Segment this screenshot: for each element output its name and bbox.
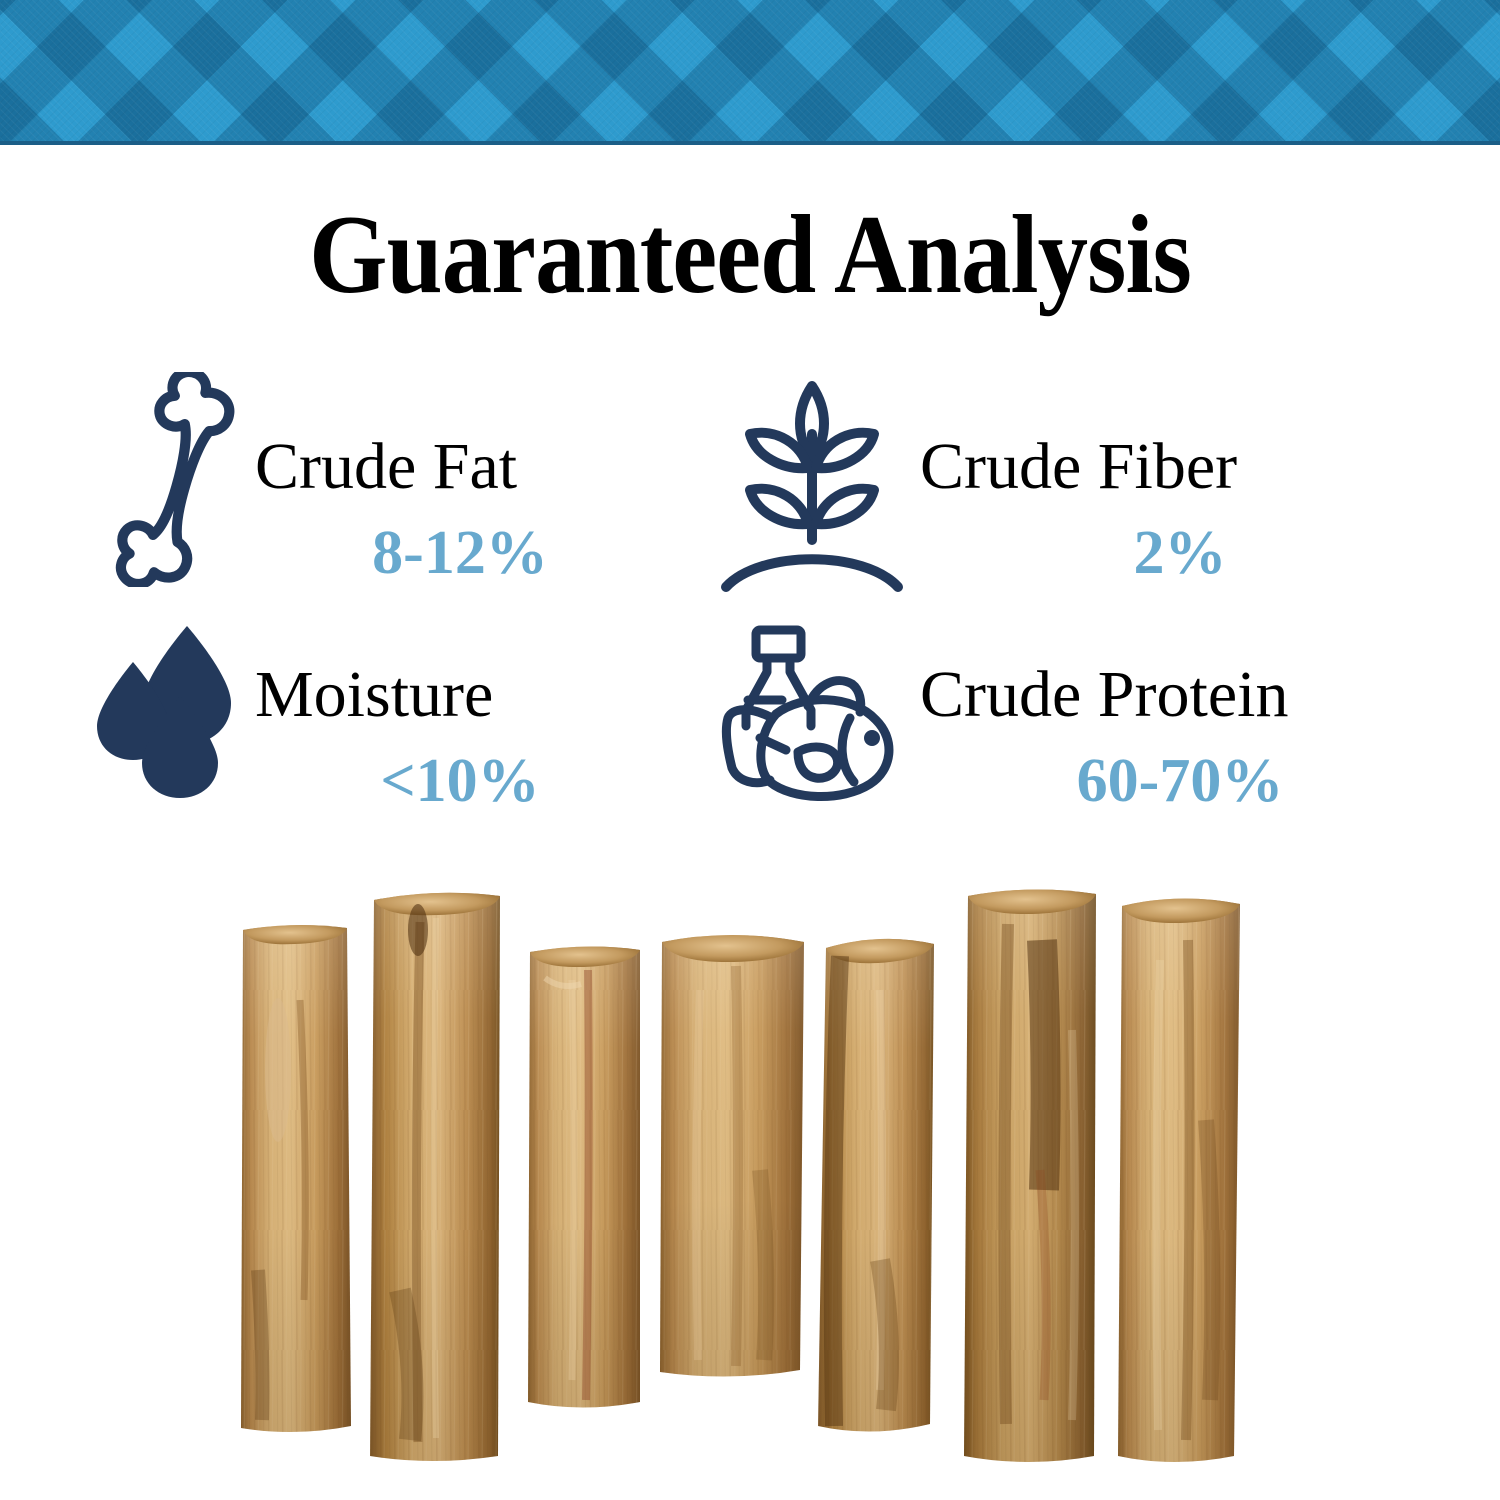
gingham-weave-texture (0, 0, 1500, 145)
bully-stick (528, 946, 640, 1407)
bully-stick (660, 935, 804, 1377)
header-gingham-banner (0, 0, 1500, 145)
stat-crude-fiber: Crude Fiber 2% (720, 372, 1440, 597)
water-droplets-icon (95, 622, 245, 812)
bully-stick (1118, 898, 1240, 1462)
stat-crude-fat-value: 8-12% (255, 518, 665, 588)
stat-crude-fat-text: Crude Fat 8-12% (255, 432, 665, 588)
stat-moisture-text: Moisture <10% (255, 660, 665, 816)
stat-moisture-value: <10% (255, 746, 665, 816)
bully-stick (370, 893, 500, 1461)
bully-sticks-illustration (0, 870, 1500, 1500)
header-bottom-rule (0, 141, 1500, 145)
stat-moisture: Moisture <10% (95, 622, 715, 847)
stat-crude-fiber-text: Crude Fiber 2% (920, 432, 1440, 588)
bully-sticks-photo (0, 870, 1500, 1500)
stat-moisture-label: Moisture (255, 660, 665, 730)
stat-crude-fiber-value: 2% (920, 518, 1440, 588)
bone-icon (95, 372, 245, 592)
bully-stick (818, 939, 934, 1432)
stat-crude-protein-value: 60-70% (920, 746, 1440, 816)
stat-crude-fat-label: Crude Fat (255, 432, 665, 502)
fish-oil-icon (720, 622, 920, 817)
stat-crude-fat: Crude Fat 8-12% (95, 372, 715, 597)
page-title: Guaranteed Analysis (75, 196, 1425, 314)
stat-crude-protein: Crude Protein 60-70% (720, 622, 1440, 847)
stat-crude-protein-label: Crude Protein (920, 660, 1440, 730)
wheat-plant-icon (720, 372, 905, 602)
guaranteed-analysis-stats: Crude Fat 8-12% (0, 372, 1500, 842)
stat-crude-protein-text: Crude Protein 60-70% (920, 660, 1440, 816)
stat-crude-fiber-label: Crude Fiber (920, 432, 1440, 502)
bully-stick (964, 889, 1096, 1462)
bully-stick (241, 925, 351, 1432)
